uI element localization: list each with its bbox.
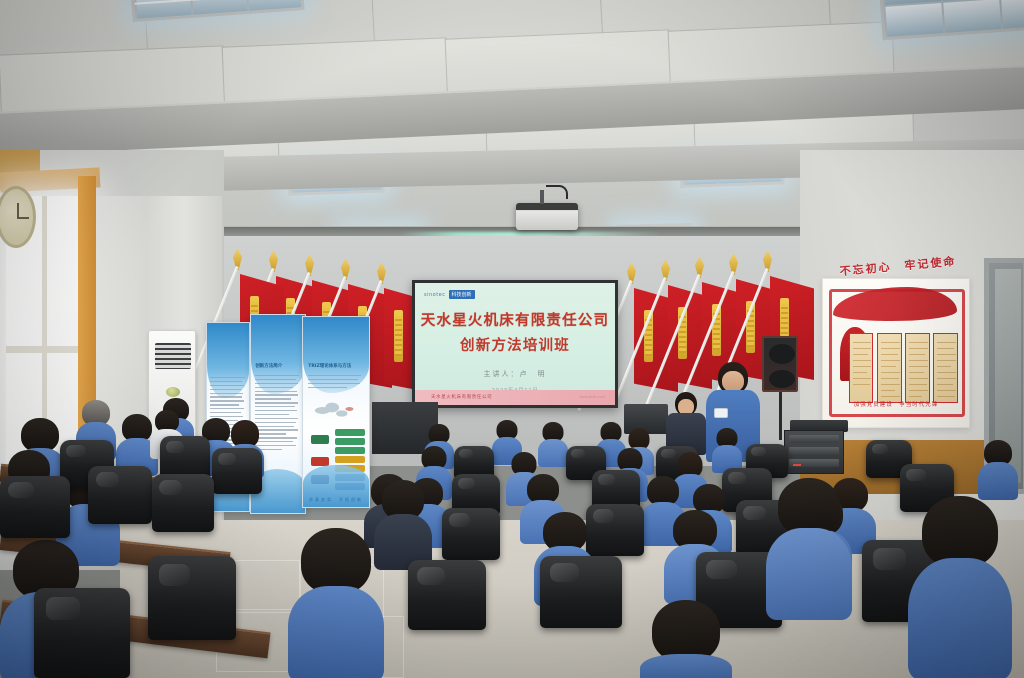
slide-footer-right: www.thsh.com [579, 395, 605, 399]
wall-board-footer: 加强党员建设 争当时代先锋 [836, 400, 956, 408]
audience-member [908, 496, 1012, 678]
audience-member [640, 600, 732, 678]
seat[interactable] [442, 508, 500, 560]
flow-node [335, 447, 365, 454]
board-panel [849, 333, 873, 403]
ceiling-projector [516, 203, 578, 230]
ac-control-panel [166, 387, 180, 397]
flow-node [311, 435, 329, 444]
slide-logo: sinotec 科技创新 [424, 290, 475, 299]
slide-presenter: 主讲人：卢 明 [415, 369, 615, 379]
slide-title: 天水星火机床有限责任公司 创新方法培训班 [415, 309, 615, 355]
conference-room-photo: 不忘初心 牢记使命 [0, 0, 1024, 678]
board-panel [905, 333, 930, 403]
seat[interactable] [88, 466, 152, 524]
slide-title-line1: 天水星火机床有限责任公司 [415, 309, 615, 330]
flow-node [335, 438, 365, 445]
speaker-stand [779, 392, 782, 440]
flow-node [335, 456, 365, 463]
ceiling-light [878, 0, 1024, 40]
av-equipment-rack [784, 430, 844, 474]
projector-mount [540, 190, 544, 204]
seat[interactable] [540, 556, 622, 628]
seat[interactable] [148, 556, 236, 640]
slide-logo-badge: 科技创新 [449, 290, 475, 299]
projection-screen: sinotec 科技创新 天水星火机床有限责任公司 创新方法培训班 主讲人：卢 … [412, 280, 618, 408]
slide-logo-mark: sinotec [424, 292, 446, 298]
slide-footer-left: 天水星火机床有限责任公司 [431, 394, 492, 400]
audience-member [978, 440, 1018, 496]
seat[interactable] [408, 560, 486, 630]
banner-heading: 创新方法简介 [255, 363, 282, 369]
board-panel [933, 333, 958, 403]
seat[interactable] [152, 474, 214, 532]
projector-cable [546, 185, 568, 199]
ac-vent [155, 343, 191, 369]
board-panel [877, 333, 902, 403]
banner-footer: 求真务实 开拓创新 [303, 497, 369, 503]
seat[interactable] [34, 588, 130, 678]
slide-title-line2: 创新方法培训班 [415, 334, 615, 355]
rollup-banner-right: TRIZ理论体系与方法 求真务实 开拓创新 [302, 316, 370, 508]
slide-content: sinotec 科技创新 天水星火机床有限责任公司 创新方法培训班 主讲人：卢 … [415, 283, 615, 405]
audience-member [538, 422, 568, 466]
slide-footer-band: 天水星火机床有限责任公司 www.thsh.com [415, 390, 615, 405]
audience-member [766, 478, 852, 618]
banner-heading: TRIZ理论体系与方法 [308, 363, 351, 369]
audience-member [712, 428, 742, 472]
seat[interactable] [0, 476, 70, 538]
seat[interactable] [212, 448, 262, 494]
flow-node [335, 429, 365, 436]
banner-body-text [308, 375, 365, 391]
presenter-name-badge [714, 408, 728, 418]
audience-member [288, 528, 384, 678]
pa-speaker [762, 336, 798, 392]
seated-attendee-front [666, 392, 706, 454]
world-map-graphic [312, 397, 360, 427]
presenter-face [722, 371, 744, 392]
